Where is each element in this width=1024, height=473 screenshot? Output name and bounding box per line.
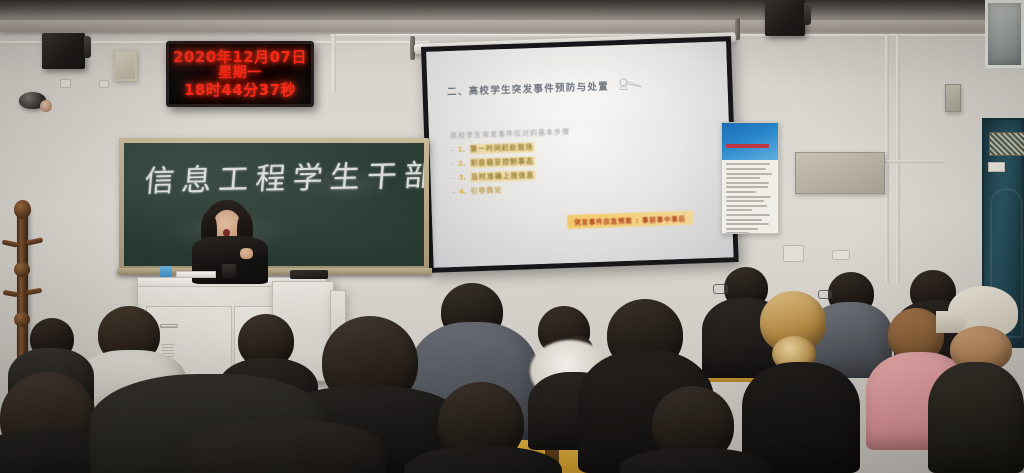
slide-item-text: 引导舆论: [470, 186, 502, 197]
paper-stack: [176, 271, 216, 278]
wall-plaque: [114, 50, 137, 81]
wall-conduit-vertical: [896, 34, 900, 284]
wall-outlet: [99, 80, 109, 88]
transom-window: [985, 0, 1024, 68]
wall-outlet: [832, 250, 850, 260]
slide-item-number: 2.: [458, 160, 466, 168]
student-body: [928, 362, 1024, 473]
dark-desk-object: [290, 270, 328, 279]
slide-bullet-list: 高校学生突发事件应对的基本步骤 – 1. 第一时间赶赴现场 – 2. 积极稳妥控…: [450, 122, 704, 201]
slide-item-text: 及时准确上报信息: [470, 170, 536, 182]
blackboard-chalk-text: 信息工程学生干部培: [143, 149, 424, 200]
led-clock-weekday: 星期一: [218, 66, 262, 82]
student-body: [186, 420, 386, 473]
bullet-dash: –: [452, 189, 455, 196]
led-clock: 2020年12月07日 星期一 18时44分37秒: [166, 41, 314, 107]
wrench-icon: [617, 78, 643, 93]
slide-item-number: 1.: [457, 146, 465, 154]
water-cup: [160, 266, 172, 277]
coat-rack-joint: [14, 262, 30, 277]
wall-outlet: [60, 79, 71, 88]
slide-item-number: 3.: [458, 174, 466, 182]
wall-poster: [721, 122, 779, 234]
lecturer-hand: [240, 248, 253, 259]
blackboard: 信息工程学生干部培: [124, 143, 424, 266]
bullet-dash: –: [451, 161, 454, 168]
wall-conduit-vertical: [885, 34, 889, 284]
led-clock-time: 18时44分37秒: [184, 82, 296, 99]
slide-item-text: 第一时间赶赴现场: [469, 143, 535, 155]
classroom-photo-scene: 2020年12月07日 星期一 18时44分37秒 二、高校学生突发事件预防与处…: [0, 0, 1024, 473]
cabinet-handle-left[interactable]: [160, 324, 178, 328]
led-clock-date: 2020年12月07日: [173, 49, 307, 66]
wall-conduit-horizontal: [885, 160, 945, 163]
wall-outlet: [783, 245, 804, 262]
wall-speaker-left: [42, 33, 85, 69]
door-ventilation-grille: [989, 132, 1024, 156]
wall-speaker-right: [765, 0, 805, 36]
coat-rack-pole: [17, 208, 28, 368]
cctv-camera-lens: [40, 100, 52, 112]
presentation-slide: 二、高校学生突发事件预防与处置 高校学生突发事件应对的基本步骤 – 1. 第一时…: [426, 41, 733, 267]
eyeglasses: [818, 290, 833, 299]
bullet-dash: –: [451, 175, 454, 182]
slide-item-number: 4.: [459, 188, 467, 196]
door-sign: [988, 162, 1005, 172]
slide-item-text: 积极稳妥控制事态: [469, 157, 535, 169]
coat-rack-joint: [14, 312, 30, 327]
bullet-dash: –: [451, 147, 454, 154]
coat-rack-finial: [14, 200, 31, 219]
dark-desk-object: [222, 264, 236, 278]
small-junction-box: [945, 84, 961, 112]
poster-header: [722, 123, 778, 160]
ceiling-beam-lip: [0, 20, 1024, 32]
blackboard-frame: 信息工程学生干部培: [119, 138, 429, 271]
slide-highlight-banner: 突发事件应急预案 : 事前事中事后: [567, 211, 693, 229]
electrical-panel-box: [795, 152, 885, 194]
wall-conduit-vertical: [332, 34, 336, 92]
poster-body-text: [722, 160, 778, 234]
student-body: [742, 362, 860, 473]
projection-screen: 二、高校学生突发事件预防与处置 高校学生突发事件应对的基本步骤 – 1. 第一时…: [421, 36, 739, 273]
eyeglasses: [713, 284, 729, 294]
